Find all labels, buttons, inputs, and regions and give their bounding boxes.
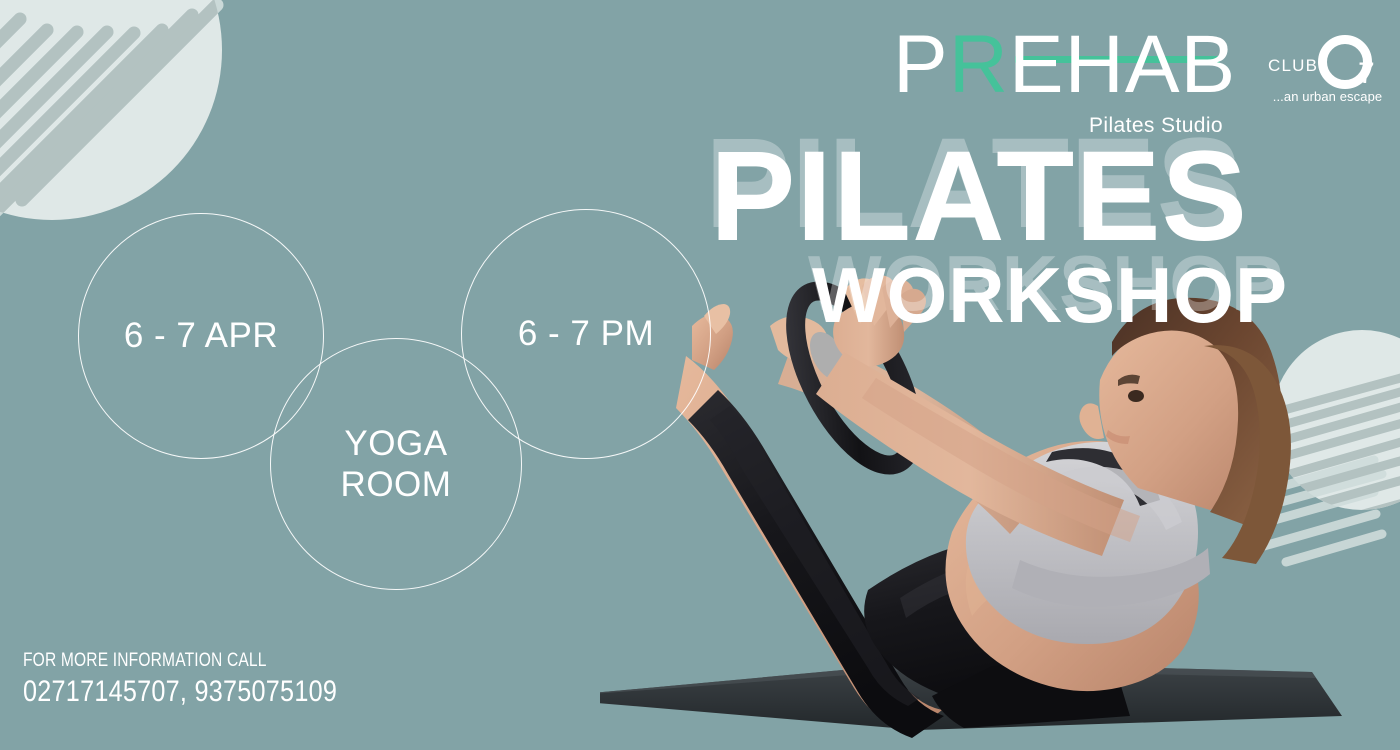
info-circle-room-line1: YOGA [344,424,447,463]
info-circle-date-text: 6 - 7 APR [124,315,278,356]
decorative-disc [0,0,222,220]
info-circle-time[interactable]: 6 - 7 PM [461,209,711,459]
club-logo-label: CLUB [1268,56,1318,76]
headline-workshop: WORKSHOP [812,256,1288,334]
poster-canvas: 6 - 7 APR YOGA ROOM 6 - 7 PM PILATES PIL… [0,0,1400,750]
club-o7-logo[interactable]: CLUB 7 ...an urban escape [1262,34,1390,114]
prehab-logo[interactable]: PREHAB Pilates Studio [893,24,1223,124]
prehab-logo-wordmark: PREHAB [893,24,1236,106]
club-logo-number-seven: 7 [1358,59,1375,89]
club-logo-tagline: ...an urban escape [1265,89,1390,104]
info-circle-room-text: YOGA ROOM [341,423,452,506]
contact-block: FOR MORE INFORMATION CALL 02717145707, 9… [23,650,397,709]
decorative-circle-stripes-top-left [0,0,222,220]
prehab-logo-letters-ehab: EHAB [1009,19,1236,110]
info-circle-room-line2: ROOM [341,465,452,504]
headline-group: PILATES PILATES WORKSHOP WORKSHOP [700,120,1310,320]
contact-label: FOR MORE INFORMATION CALL [23,650,330,672]
prehab-logo-subtitle: Pilates Studio [1089,114,1223,138]
contact-phone-numbers[interactable]: 02717145707, 9375075109 [23,675,337,709]
prehab-logo-letter-r: R [949,19,1009,110]
info-circle-time-text: 6 - 7 PM [518,313,654,354]
prehab-logo-letter-p: P [893,19,949,110]
